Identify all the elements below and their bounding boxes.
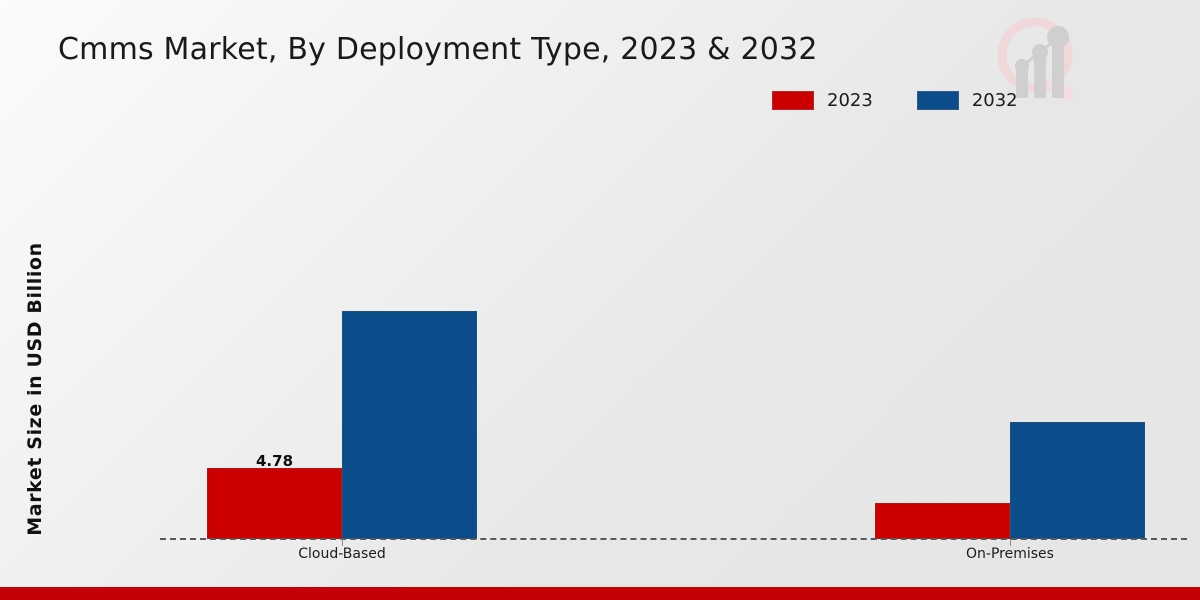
bar-cloud-based-2032[interactable] [342, 311, 477, 539]
bar-cloud-based-2023[interactable] [207, 468, 342, 539]
axis-tick-cloud-based [342, 539, 343, 546]
bar-on-premises-2032[interactable] [1010, 422, 1145, 539]
bar-on-premises-2023[interactable] [875, 503, 1010, 539]
footer-accent-bar [0, 587, 1200, 600]
chart-infographic: Cmms Market, By Deployment Type, 2023 & … [0, 0, 1200, 600]
y-axis-title: Market Size in USD Billion [24, 139, 46, 600]
category-label-on-premises: On-Premises [966, 546, 1054, 562]
axis-tick-on-premises [1010, 539, 1011, 546]
x-axis-baseline [160, 538, 1187, 540]
plot-area: Market Size in USD Billion 4.78 Cloud-Ba… [0, 0, 1200, 600]
bar-value-label-cloud-based-2023: 4.78 [256, 452, 293, 470]
category-label-cloud-based: Cloud-Based [298, 546, 386, 562]
